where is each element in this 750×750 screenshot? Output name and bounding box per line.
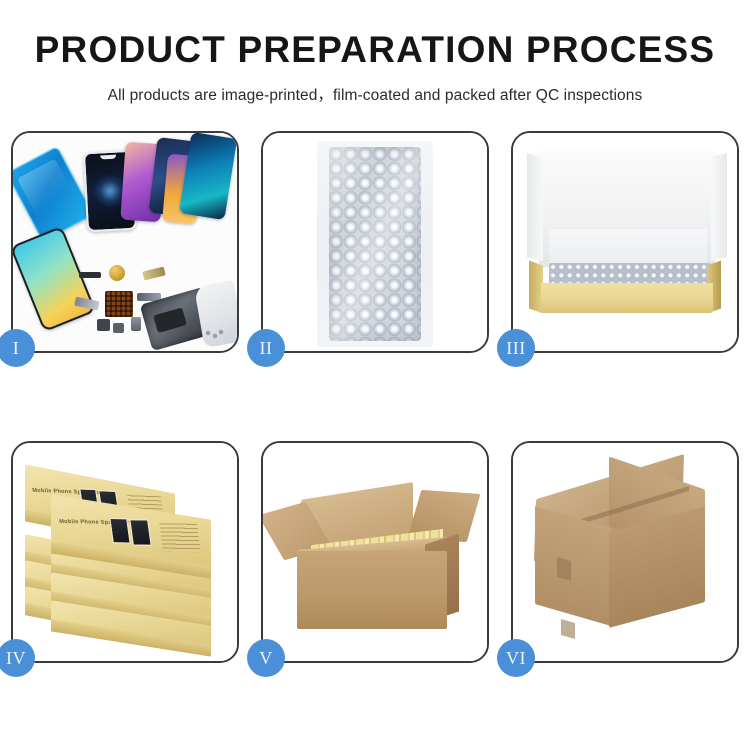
step-badge-5: V xyxy=(247,639,285,677)
retail-box-stack: Mobile Phone Spare Parts Mobile Phone Sp… xyxy=(21,461,233,651)
plastic-sheen-overlay xyxy=(329,147,421,341)
process-step-grid: I II III xyxy=(11,131,739,663)
step-badge-4: IV xyxy=(0,639,35,677)
screws-part xyxy=(205,329,225,339)
camera-module-part xyxy=(97,319,110,331)
process-step-4: Mobile Phone Spare Parts Mobile Phone Sp… xyxy=(11,441,239,663)
step-1-image xyxy=(13,133,237,351)
step-badge-2: II xyxy=(247,329,285,367)
step-badge-3: III xyxy=(497,329,535,367)
button-part xyxy=(113,323,124,333)
page-header: PRODUCT PREPARATION PROCESS All products… xyxy=(0,0,750,105)
step-3-image xyxy=(513,133,737,351)
sealed-carton-left-face xyxy=(535,506,611,626)
process-step-6: VI xyxy=(511,441,739,663)
process-step-2: II xyxy=(261,131,489,353)
box-artwork-screen-a xyxy=(109,518,130,544)
process-step-5: V xyxy=(261,441,489,663)
sealed-carton-tape-lower xyxy=(561,619,575,639)
battery-part xyxy=(131,317,141,331)
page-subtitle: All products are image-printed，film-coat… xyxy=(0,83,750,105)
chip-grid-part xyxy=(105,291,133,317)
process-step-1: I xyxy=(11,131,239,353)
box-artwork-text-lines xyxy=(159,523,201,552)
step-6-image xyxy=(513,443,737,661)
mailer-front-panel xyxy=(541,283,713,313)
step-badge-1: I xyxy=(0,329,35,367)
step-5-image xyxy=(263,443,487,661)
step-4-image: Mobile Phone Spare Parts Mobile Phone Sp… xyxy=(13,443,237,661)
carton-front-face xyxy=(297,551,447,629)
process-step-3: III xyxy=(511,131,739,353)
step-badge-6: VI xyxy=(497,639,535,677)
speaker-bar-part xyxy=(79,272,101,278)
step-2-image xyxy=(263,133,487,351)
coil-part-icon xyxy=(109,265,125,281)
page-title: PRODUCT PREPARATION PROCESS xyxy=(0,30,750,71)
sealed-carton-tape-upper xyxy=(557,557,571,581)
box-artwork-screen-b xyxy=(129,519,151,546)
